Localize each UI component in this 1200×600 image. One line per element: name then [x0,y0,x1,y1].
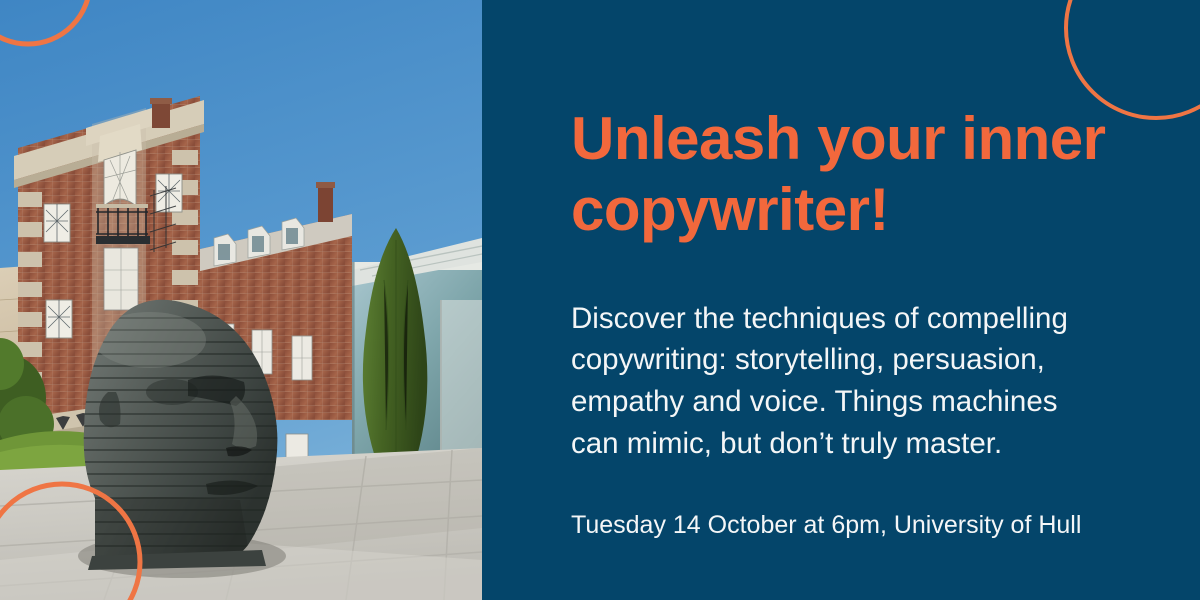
date-venue-line: Tuesday 14 October at 6pm, University of… [571,509,1131,542]
text-panel: Unleash your inner copywriter! Discover … [482,0,1200,600]
event-photo [0,0,482,600]
body-copy: Discover the techniques of compelling co… [571,298,1131,466]
headline: Unleash your inner copywriter! [571,104,1131,246]
photo-illustration [0,0,482,600]
event-banner: Unleash your inner copywriter! Discover … [0,0,1200,600]
text-stack: Unleash your inner copywriter! Discover … [571,104,1131,542]
